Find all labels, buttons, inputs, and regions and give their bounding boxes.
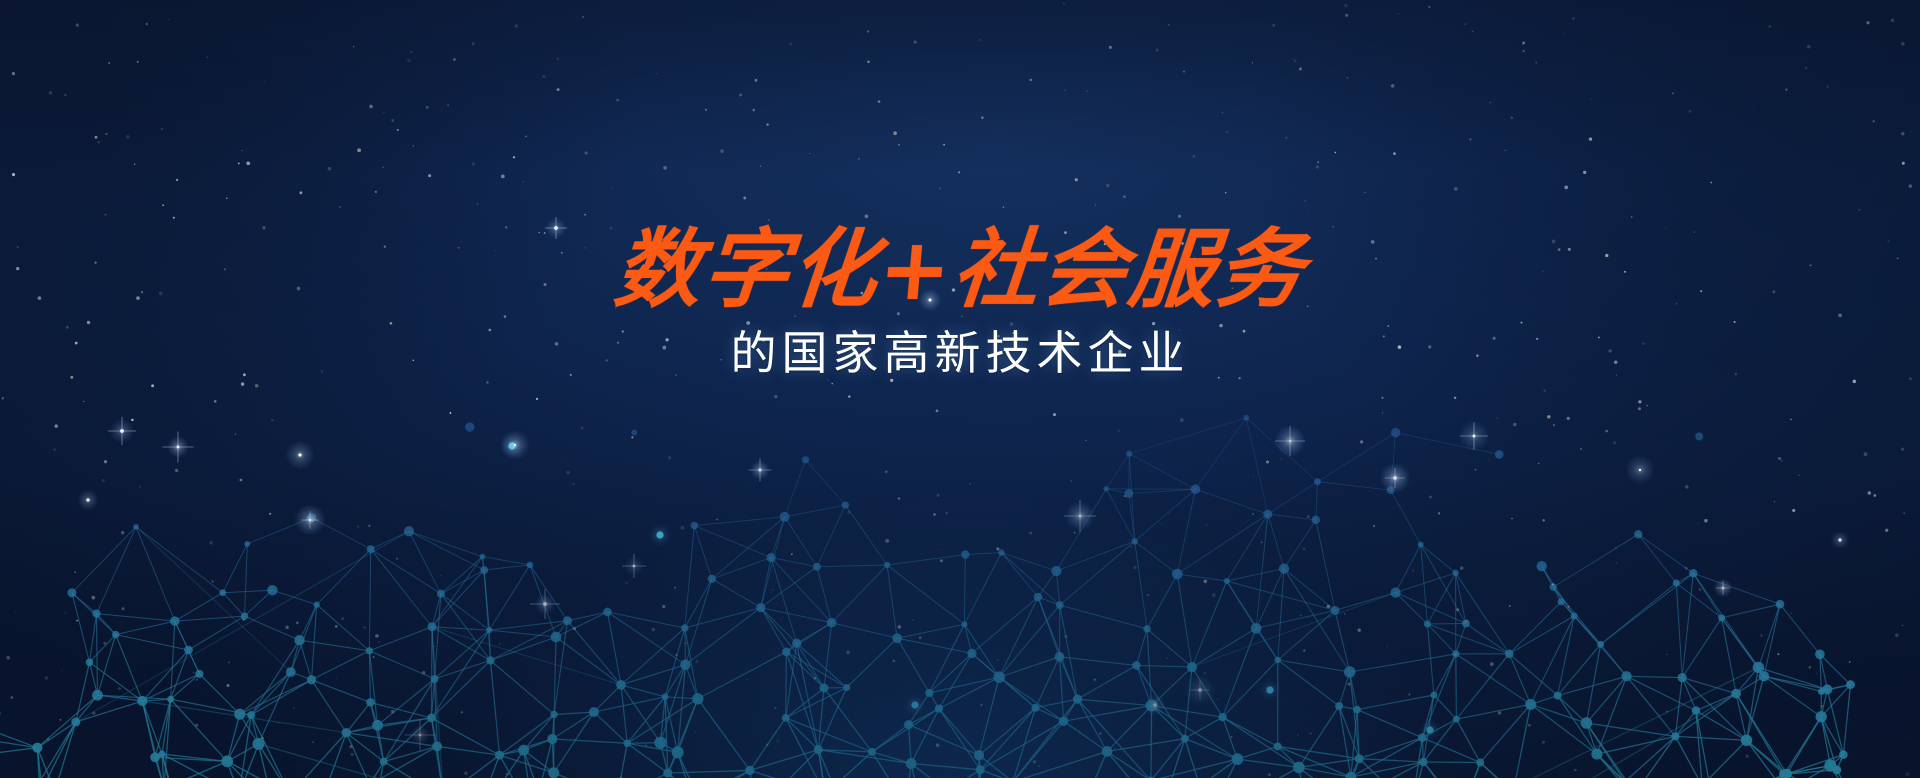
- hero-banner: 数字化+社会服务 的国家高新技术企业: [0, 0, 1920, 778]
- background-vignette: [0, 0, 1920, 778]
- banner-subline: 的国家高新技术企业: [0, 324, 1920, 382]
- banner-text-block: 数字化+社会服务 的国家高新技术企业: [0, 222, 1920, 382]
- banner-headline: 数字化+社会服务: [0, 222, 1920, 318]
